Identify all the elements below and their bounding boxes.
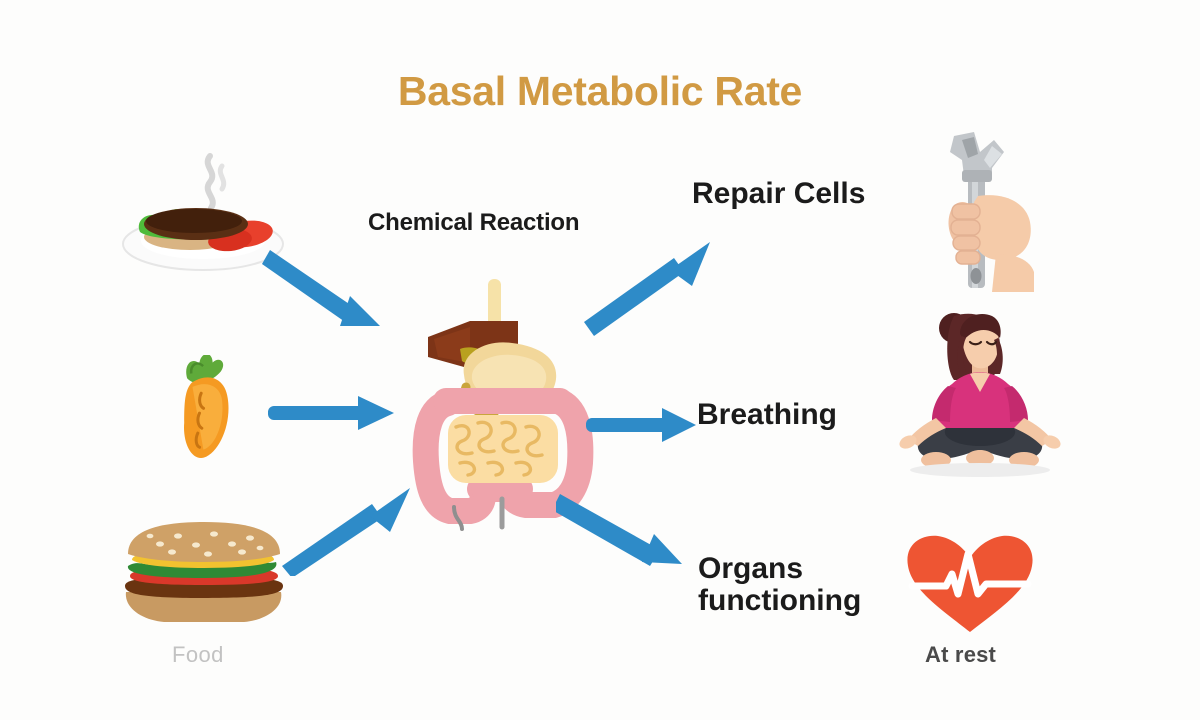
hand-holding-wrench-icon xyxy=(918,130,1058,292)
arrow-center-to-breathing xyxy=(586,404,698,448)
arrow-burger-to-center xyxy=(278,478,428,576)
hamburger-icon xyxy=(116,520,291,632)
carrot-icon xyxy=(148,355,266,470)
at-rest-group-label: At rest xyxy=(925,643,996,667)
arrow-center-to-repair-cells xyxy=(582,228,734,338)
bmr-diagram-canvas: Basal Metabolic Rate xyxy=(0,0,1200,720)
food-group-label: Food xyxy=(172,643,224,667)
arrow-carrot-to-center xyxy=(268,392,396,436)
output-label-breathing: Breathing xyxy=(697,399,837,431)
page-title: Basal Metabolic Rate xyxy=(0,68,1200,115)
chemical-reaction-label: Chemical Reaction xyxy=(368,210,579,236)
output-label-repair-cells: Repair Cells xyxy=(692,178,865,210)
heart-with-ecg-icon xyxy=(902,532,1038,636)
output-label-organs-functioning: Organs functioning xyxy=(698,553,908,618)
arrow-plate-to-center xyxy=(262,238,412,346)
meditating-woman-icon xyxy=(892,300,1070,480)
arrow-center-to-organs xyxy=(556,488,712,590)
